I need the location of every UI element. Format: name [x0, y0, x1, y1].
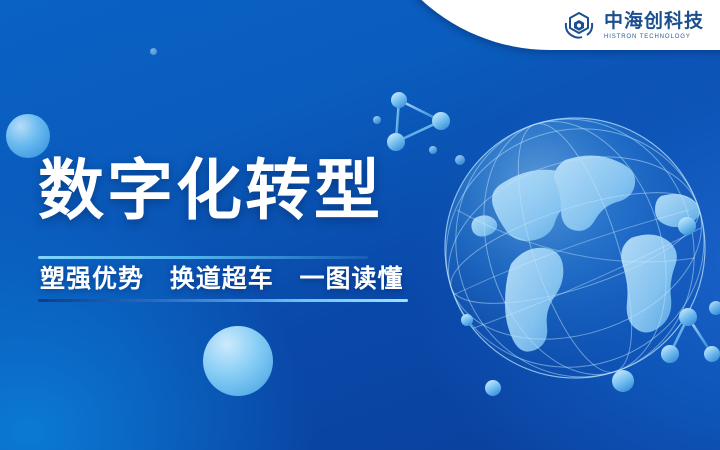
- divider-line-top: [38, 256, 368, 259]
- network-node-cluster-top-left: [372, 84, 468, 170]
- decorative-sphere-bottom-left: [203, 326, 273, 396]
- brand-name-cn: 中海创科技: [604, 12, 704, 31]
- poster-title: 数字化转型: [38, 158, 383, 224]
- headline-block: 数字化转型: [38, 158, 383, 224]
- subtitle-part-2: 换道超车: [170, 264, 274, 293]
- subtitle-part-1: 塑强优势: [40, 264, 144, 293]
- brand-logo-group[interactable]: 中海创科技 HISTRON TECHNOLOGY: [484, 0, 720, 52]
- poster-subtitle: 塑强优势 换道超车 一图读懂: [40, 262, 403, 296]
- histron-cube-logo-icon: [562, 9, 596, 43]
- decorative-dot-small: [150, 48, 157, 55]
- brand-text: 中海创科技 HISTRON TECHNOLOGY: [604, 12, 704, 40]
- brand-name-en: HISTRON TECHNOLOGY: [604, 34, 704, 40]
- subtitle-part-3: 一图读懂: [299, 264, 403, 293]
- network-node-cluster-bottom-right: [648, 286, 720, 372]
- poster-canvas: 数字化转型 塑强优势 换道超车 一图读懂 中海创科技 HISTRON TECHN…: [0, 0, 720, 450]
- divider-line-bottom: [38, 299, 408, 302]
